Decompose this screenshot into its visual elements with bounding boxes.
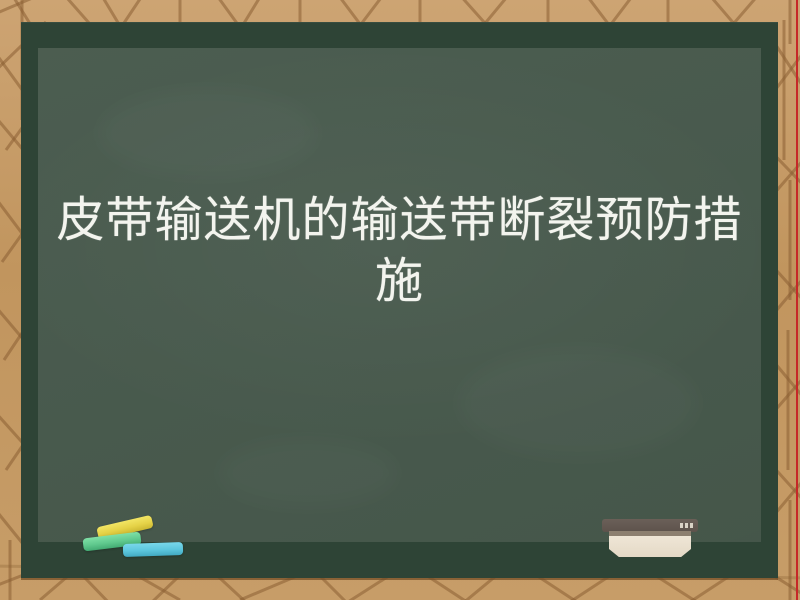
chalk-smudge: [458, 348, 698, 458]
eraser-dots-icon: [680, 523, 693, 528]
right-edge-marker: [796, 0, 798, 600]
eraser-felt: [609, 536, 691, 557]
slide-canvas: 皮带输送机的输送带断裂预防措施: [0, 0, 800, 600]
board-title: 皮带输送机的输送带断裂预防措施: [47, 190, 752, 313]
chalkboard-frame: 皮带输送机的输送带断裂预防措施: [21, 22, 778, 578]
board-title-area: 皮带输送机的输送带断裂预防措施: [21, 190, 778, 313]
chalk-smudge: [98, 88, 318, 178]
chalk-smudge: [218, 438, 398, 508]
board-eraser[interactable]: [602, 519, 698, 557]
chalk-stick-blue[interactable]: [123, 542, 183, 557]
